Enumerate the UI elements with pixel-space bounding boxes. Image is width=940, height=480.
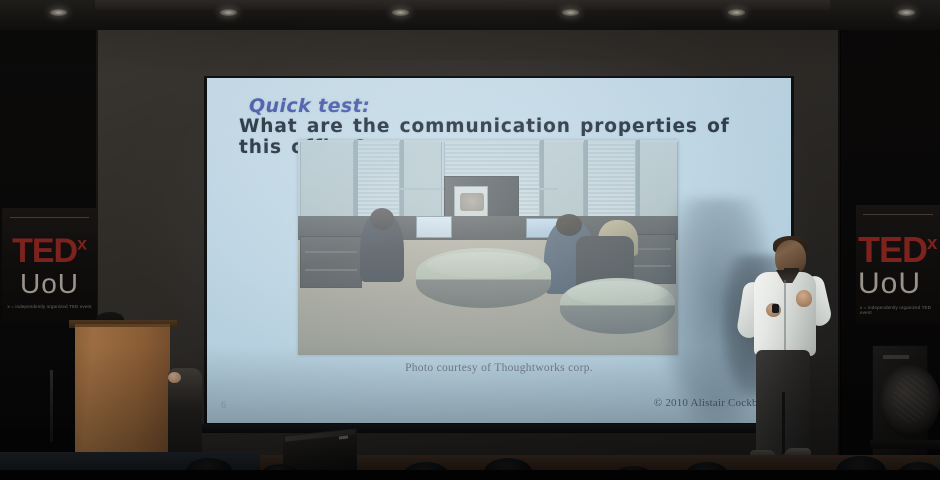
- presenter-shirt-placket: [784, 280, 786, 352]
- slide-eyebrow: Quick test:: [249, 95, 370, 117]
- office-photo: [298, 140, 678, 355]
- tedx-superscript-x: x: [77, 234, 87, 254]
- photo-round-table: [416, 248, 551, 308]
- ceiling-panel-strip: [95, 0, 830, 10]
- ceiling-light-icon: [50, 9, 67, 16]
- photo-round-table: [560, 278, 675, 334]
- photo-caption: Photo courtesy of Thoughtworks corp.: [207, 362, 791, 374]
- photo-laptop: [416, 216, 452, 238]
- foreground-shadow: [0, 470, 940, 480]
- presenter-right-hand: [796, 290, 812, 307]
- slide-number: 6: [221, 400, 226, 411]
- tedx-org-right: UoU: [856, 267, 940, 301]
- projection-screen: Quick test: What are the communication p…: [207, 78, 791, 423]
- banner-rule: [863, 214, 934, 215]
- ceiling-light-icon: [898, 9, 915, 16]
- podium-microphone-stand: [50, 370, 53, 442]
- photo-cabinet: [300, 236, 362, 288]
- ceiling-light-icon: [728, 9, 745, 16]
- ceiling: [0, 0, 940, 30]
- tedx-tagline-right: x = independently organized TED event: [856, 305, 940, 315]
- presenter-clicker-remote: [772, 304, 779, 313]
- tedx-superscript-x: x: [927, 232, 937, 253]
- ceiling-light-icon: [220, 9, 237, 16]
- slide: Quick test: What are the communication p…: [207, 78, 791, 423]
- photo-person-head: [556, 214, 582, 236]
- loudspeaker-stand: [870, 440, 940, 449]
- ceiling-light-icon: [392, 9, 409, 16]
- ted-wordmark: TED: [858, 229, 927, 270]
- stage-scene: Quick test: What are the communication p…: [0, 0, 940, 480]
- presenter-leg-split: [782, 392, 785, 454]
- loudspeaker-grille: [893, 375, 929, 423]
- tedx-banner-right: TEDx UoU x = independently organized TED…: [856, 205, 940, 323]
- loudspeaker-badge: [883, 355, 909, 359]
- tedx-org-left: UoU: [2, 268, 97, 300]
- podium-assistant-hand: [168, 372, 181, 383]
- screen-bottom-bar: [200, 424, 800, 433]
- ted-wordmark: TED: [12, 232, 77, 270]
- banner-rule: [10, 217, 90, 218]
- photo-person-head: [370, 208, 394, 230]
- tedx-logo-left: TEDx: [2, 232, 97, 271]
- tedx-tagline-left: x = independently organized TED event: [2, 304, 97, 309]
- wall-seam-right: [838, 22, 841, 480]
- ceiling-light-icon: [562, 9, 579, 16]
- tedx-banner-left: TEDx UoU x = independently organized TED…: [2, 208, 97, 323]
- tedx-logo-right: TEDx: [856, 229, 940, 271]
